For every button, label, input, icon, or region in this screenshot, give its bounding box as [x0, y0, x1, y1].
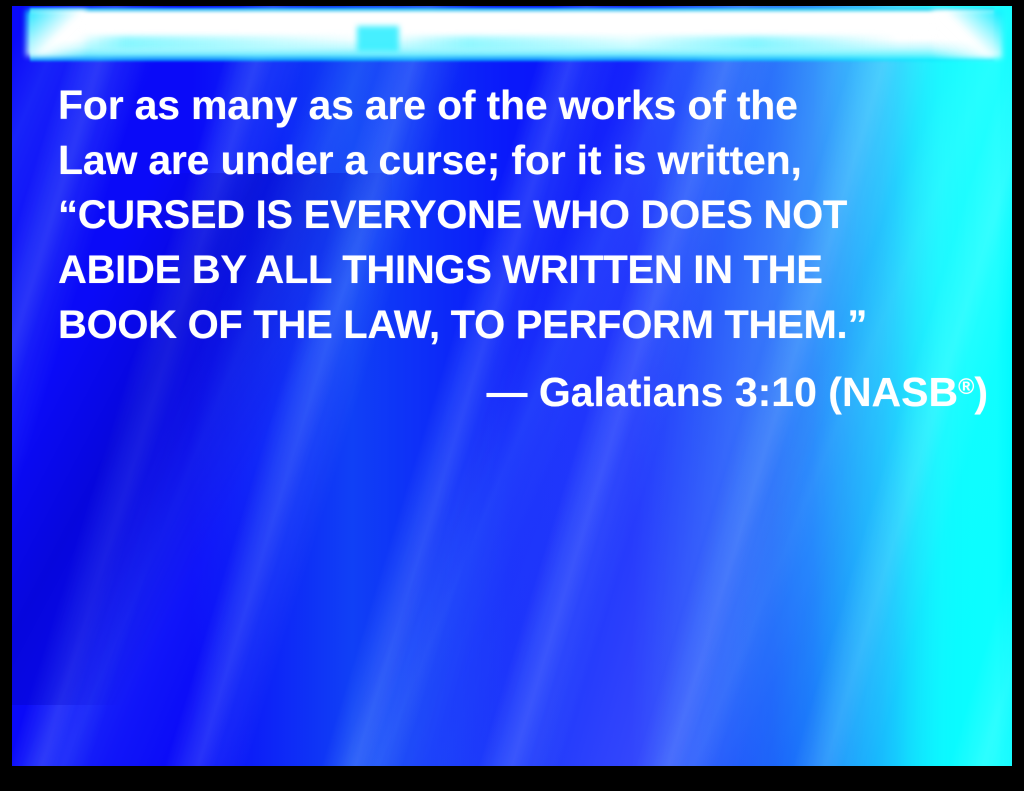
verse-line-4: ABIDE BY ALL THINGS WRITTEN IN THE [58, 243, 998, 298]
top-glow-left-cap [26, 10, 86, 56]
verse-line-5: BOOK OF THE LAW, TO PERFORM THEM.” [58, 298, 998, 353]
top-glow-right-cap [932, 10, 1002, 58]
top-glow-cyan-streak [72, 36, 972, 50]
verse-line-2: Law are under a curse; for it is written… [58, 133, 998, 188]
attribution-dash: — [486, 369, 527, 415]
attribution-reference: Galatians 3:10 [539, 369, 817, 415]
top-glow-notch [357, 26, 399, 52]
attribution-translation-open: (NASB [828, 369, 958, 415]
verse-attribution: — Galatians 3:10 (NASB®) [58, 361, 988, 418]
top-white-glow-bar [30, 8, 994, 62]
attribution-translation-close: ) [974, 369, 988, 415]
scripture-slide: For as many as are of the works of the L… [0, 0, 1024, 791]
slide-background-panel: For as many as are of the works of the L… [12, 6, 1012, 766]
registered-trademark-icon: ® [958, 374, 974, 399]
verse-text-block: For as many as are of the works of the L… [58, 78, 998, 353]
verse-line-1: For as many as are of the works of the [58, 78, 998, 133]
verse-line-3: “CURSED IS EVERYONE WHO DOES NOT [58, 188, 998, 243]
